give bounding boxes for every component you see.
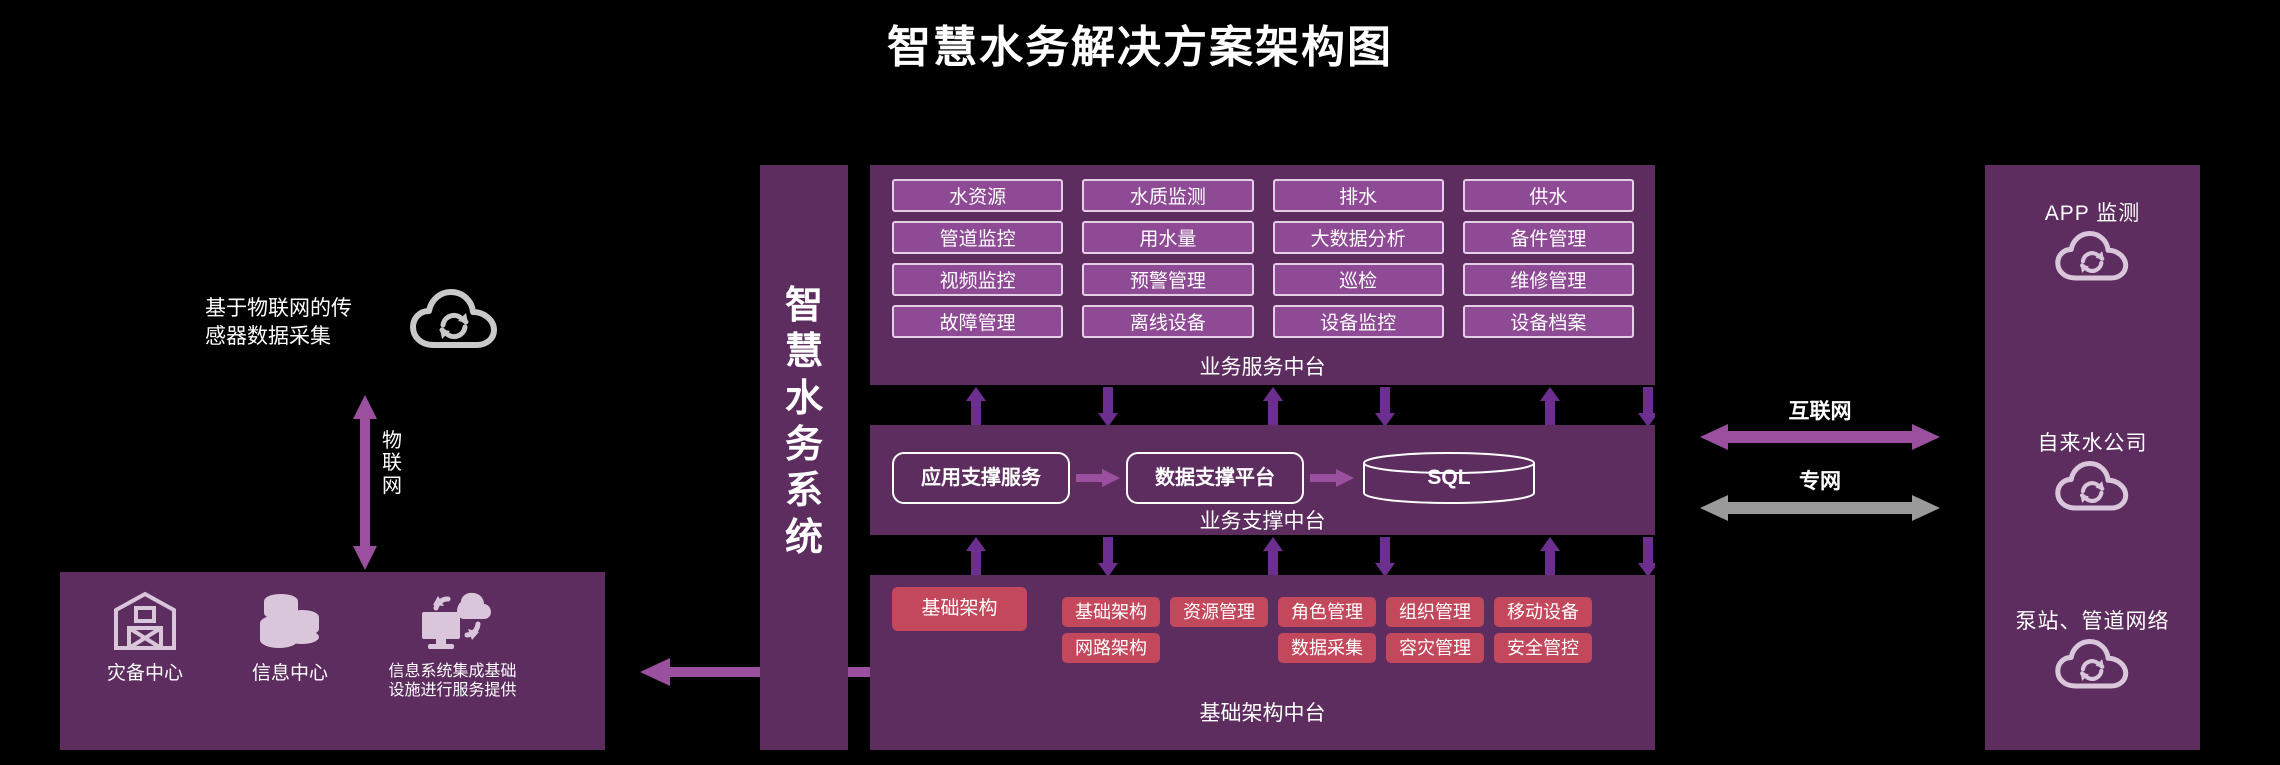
service-cell[interactable]: 设备监控: [1273, 305, 1444, 338]
facility-label-line-1: 信息系统集成基础: [360, 663, 545, 682]
endpoint-label: APP 监测: [1985, 197, 2200, 227]
infra-cell[interactable]: 容灾管理: [1386, 633, 1484, 663]
facility-label-line-2: 设施进行服务提供: [360, 682, 545, 701]
iot-vertical-arrow: [352, 395, 378, 570]
iot-caption-line-1: 基于物联网的传: [205, 295, 395, 323]
endpoint-label: 自来水公司: [1985, 427, 2200, 457]
cloud-sync-icon: [2053, 231, 2133, 283]
service-cell[interactable]: 水质监测: [1082, 179, 1253, 212]
support-infra-arrows: [870, 537, 1655, 577]
diagram-canvas: 智慧水务解决方案架构图 基于物联网的传 感器数据采集 物 联 网: [0, 0, 2280, 765]
system-column-label: 智 慧 水 务 系 统: [760, 283, 848, 561]
iot-caption: 基于物联网的传 感器数据采集: [205, 295, 395, 352]
facility-system-integration[interactable]: 信息系统集成基础 设施进行服务提供: [360, 590, 545, 701]
internet-link-label: 互联网: [1700, 395, 1940, 425]
iot-arrow-label-char: 物: [382, 430, 406, 452]
monitor-cloud-sync-icon: [414, 590, 492, 652]
flow-arrow-icon: [1304, 466, 1360, 490]
infra-cell[interactable]: 基础架构: [1062, 597, 1160, 627]
service-cell[interactable]: 备件管理: [1463, 221, 1634, 254]
facilities-panel: 灾备中心 信息中心: [60, 572, 605, 750]
endpoint-label: 泵站、管道网络: [1985, 605, 2200, 635]
column-char: 系: [760, 468, 848, 514]
infra-cell[interactable]: 移动设备: [1494, 597, 1592, 627]
internet-link-arrow: [1700, 422, 1940, 457]
service-cell[interactable]: 巡检: [1273, 263, 1444, 296]
iot-capture-block: 基于物联网的传 感器数据采集: [205, 295, 525, 365]
private-network-arrow: [1700, 493, 1940, 528]
endpoint-pump-pipeline[interactable]: 泵站、管道网络: [1985, 605, 2200, 696]
support-node-data[interactable]: 数据支撑平台: [1126, 452, 1304, 504]
endpoint-app-monitoring[interactable]: APP 监测: [1985, 197, 2200, 288]
service-cell[interactable]: 管道监控: [892, 221, 1063, 254]
infrastructure-cells: 基础架构 网路架构 资源管理 角色管理 数据采集 组织管理 容灾管理 移动设备 …: [870, 589, 1655, 679]
service-platform-band-label: 业务服务中台: [870, 351, 1655, 381]
support-node-database[interactable]: SQL: [1360, 451, 1538, 505]
service-platform-grid: 水资源 水质监测 排水 供水 管道监控 用水量 大数据分析 备件管理 视频监控 …: [892, 179, 1634, 338]
service-cell[interactable]: 用水量: [1082, 221, 1253, 254]
facility-label: 信息中心: [215, 663, 365, 686]
service-cell[interactable]: 排水: [1273, 179, 1444, 212]
facility-information-center[interactable]: 信息中心: [215, 590, 365, 686]
iot-arrow-label-char: 联: [382, 452, 406, 474]
support-platform-flow: 应用支撑服务 数据支撑平台 SQL: [892, 447, 1634, 509]
service-cell[interactable]: 设备档案: [1463, 305, 1634, 338]
column-char: 慧: [760, 329, 848, 375]
flow-arrow-icon: [1070, 466, 1126, 490]
iot-caption-line-2: 感器数据采集: [205, 323, 395, 351]
cloud-sync-icon: [2053, 461, 2133, 513]
support-platform-band-label: 业务支撑中台: [870, 505, 1655, 535]
infra-cell[interactable]: 资源管理: [1170, 597, 1268, 627]
service-cell[interactable]: 供水: [1463, 179, 1634, 212]
facility-disaster-recovery[interactable]: 灾备中心: [70, 590, 220, 686]
support-node-app[interactable]: 应用支撑服务: [892, 452, 1070, 504]
service-cell[interactable]: 离线设备: [1082, 305, 1253, 338]
page-title: 智慧水务解决方案架构图: [0, 22, 2280, 75]
column-char: 水: [760, 376, 848, 422]
service-cell[interactable]: 预警管理: [1082, 263, 1253, 296]
infrastructure-band-label: 基础架构中台: [870, 697, 1655, 727]
database-stack-icon: [254, 590, 326, 652]
barn-datacenter-icon: [112, 590, 178, 652]
infra-cell[interactable]: 组织管理: [1386, 597, 1484, 627]
endpoint-water-company[interactable]: 自来水公司: [1985, 427, 2200, 518]
cloud-sync-icon: [410, 289, 500, 356]
infra-cell[interactable]: 安全管控: [1494, 633, 1592, 663]
column-char: 智: [760, 283, 848, 329]
column-char: 统: [760, 515, 848, 561]
service-cell[interactable]: 视频监控: [892, 263, 1063, 296]
service-platform-panel: 水资源 水质监测 排水 供水 管道监控 用水量 大数据分析 备件管理 视频监控 …: [870, 165, 1655, 385]
private-network-label: 专网: [1700, 465, 1940, 495]
service-cell[interactable]: 故障管理: [892, 305, 1063, 338]
column-char: 务: [760, 422, 848, 468]
infrastructure-panel: 基础架构 基础架构 网路架构 资源管理 角色管理 数据采集 组织管理 容灾管理 …: [870, 575, 1655, 750]
iot-arrow-label-char: 网: [382, 475, 406, 497]
infra-cell[interactable]: 网路架构: [1062, 633, 1160, 663]
infra-cell[interactable]: 数据采集: [1278, 633, 1376, 663]
service-cell[interactable]: 水资源: [892, 179, 1063, 212]
infra-cell[interactable]: 角色管理: [1278, 597, 1376, 627]
database-label: SQL: [1427, 466, 1470, 490]
service-cell[interactable]: 大数据分析: [1273, 221, 1444, 254]
service-support-arrows: [870, 387, 1655, 427]
facility-label: 灾备中心: [70, 663, 220, 686]
external-endpoints-panel: APP 监测 自来水公司 泵站、管道网络: [1985, 165, 2200, 750]
system-column-panel: 智 慧 水 务 系 统: [760, 165, 848, 750]
service-cell[interactable]: 维修管理: [1463, 263, 1634, 296]
support-platform-panel: 应用支撑服务 数据支撑平台 SQL: [870, 425, 1655, 535]
iot-arrow-label: 物 联 网: [382, 430, 406, 497]
cloud-sync-icon: [2053, 639, 2133, 691]
